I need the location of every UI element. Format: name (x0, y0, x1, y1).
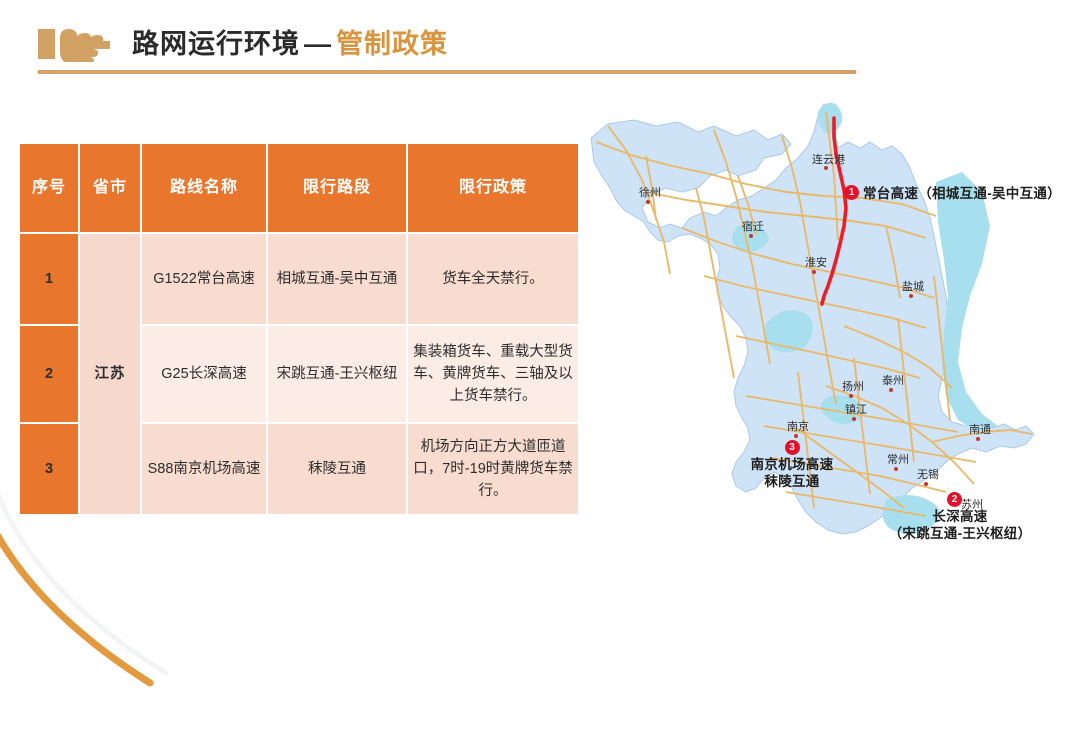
cell-segment-1: 相城互通-吴中互通 (268, 234, 406, 324)
cell-segment-2: 宋跳互通-王兴枢纽 (268, 326, 406, 422)
map-callout-3: 3 南京机场高速 秣陵互通 (728, 440, 856, 490)
jiangsu-map: 徐州 连云港 宿迁 淮安 盐城 扬州 泰州 镇江 南京 南通 常州 无锡 苏州 … (586, 96, 1080, 566)
city-dot-changzhou (894, 467, 898, 471)
cell-route-1: G1522常台高速 (142, 234, 266, 324)
city-dot-yangzhou (849, 394, 853, 398)
cell-policy-2: 集装箱货车、重载大型货车、黄牌货车、三轴及以上货车禁行。 (408, 326, 578, 422)
column-header-province: 省市 (80, 144, 140, 232)
cell-route-2: G25长深高速 (142, 326, 266, 422)
city-dot-xuzhou (646, 200, 650, 204)
page-title-accent: 管制政策 (336, 29, 448, 59)
city-label-nanjing: 南京 (787, 418, 809, 434)
title-underline (38, 70, 856, 74)
column-header-index: 序号 (20, 144, 78, 232)
callout-text-3-b: 秣陵互通 (728, 473, 856, 490)
callout-text-1: 常台高速（相城互通-吴中互通） (863, 182, 1061, 202)
city-label-zhenjiang: 镇江 (845, 401, 867, 417)
callout-badge-3: 3 (785, 440, 800, 455)
cell-segment-3: 秣陵互通 (268, 424, 406, 514)
cell-province: 江苏 (80, 234, 140, 514)
page-title: 路网运行环境—管制政策 (132, 27, 448, 61)
city-label-yangzhou: 扬州 (842, 378, 864, 394)
callout-text-2-a: 长深高速 (875, 508, 1045, 525)
cell-policy-3: 机场方向正方大道匝道口，7时-19时黄牌货车禁行。 (408, 424, 578, 514)
page-title-main: 路网运行环境 (132, 29, 300, 59)
column-header-segment: 限行路段 (268, 144, 406, 232)
city-label-changzhou: 常州 (887, 451, 909, 467)
policy-table: 序号 省市 路线名称 限行路段 限行政策 1 江苏 G1522常台高速 相城互通… (18, 142, 580, 516)
city-dot-huaian (812, 270, 816, 274)
table-header-row: 序号 省市 路线名称 限行路段 限行政策 (20, 144, 578, 232)
cell-index-3: 3 (20, 424, 78, 514)
cell-index-1: 1 (20, 234, 78, 324)
city-label-wuxi: 无锡 (917, 466, 939, 482)
city-dot-taizhou (889, 388, 893, 392)
city-label-nantong: 南通 (969, 421, 991, 437)
callout-text-2-b: （宋跳互通-王兴枢纽） (875, 525, 1045, 542)
city-label-huaian: 淮安 (805, 254, 827, 270)
city-dot-yancheng (909, 294, 913, 298)
city-label-taizhou: 泰州 (882, 372, 904, 388)
city-label-suqian: 宿迁 (742, 218, 764, 234)
column-header-route: 路线名称 (142, 144, 266, 232)
city-dot-nantong (976, 437, 980, 441)
callout-badge-2: 2 (947, 492, 962, 507)
policy-table-container: 序号 省市 路线名称 限行路段 限行政策 1 江苏 G1522常台高速 相城互通… (18, 142, 574, 516)
city-dot-nanjing (794, 434, 798, 438)
city-dot-suqian (749, 234, 753, 238)
map-callout-2: 2 长深高速 （宋跳互通-王兴枢纽） (875, 492, 1045, 542)
city-label-lianyungang: 连云港 (812, 151, 845, 167)
slide-canvas: 路网运行环境—管制政策 序号 省市 路线名称 限行路段 限行政策 1 (0, 0, 1080, 608)
cell-index-2: 2 (20, 326, 78, 422)
column-header-policy: 限行政策 (408, 144, 578, 232)
city-label-yancheng: 盐城 (902, 278, 924, 294)
table-row: 1 江苏 G1522常台高速 相城互通-吴中互通 货车全天禁行。 (20, 234, 578, 324)
cell-policy-1: 货车全天禁行。 (408, 234, 578, 324)
callout-text-3-a: 南京机场高速 (728, 456, 856, 473)
callout-badge-1: 1 (844, 185, 859, 200)
page-title-dash: — (300, 29, 336, 59)
cell-route-3: S88南京机场高速 (142, 424, 266, 514)
city-dot-wuxi (924, 482, 928, 486)
slide-header: 路网运行环境—管制政策 (0, 0, 1080, 82)
city-dot-zhenjiang (852, 417, 856, 421)
city-label-xuzhou: 徐州 (639, 184, 661, 200)
map-callout-1: 1常台高速（相城互通-吴中互通） (844, 182, 1061, 202)
pointing-hand-icon (38, 24, 110, 62)
